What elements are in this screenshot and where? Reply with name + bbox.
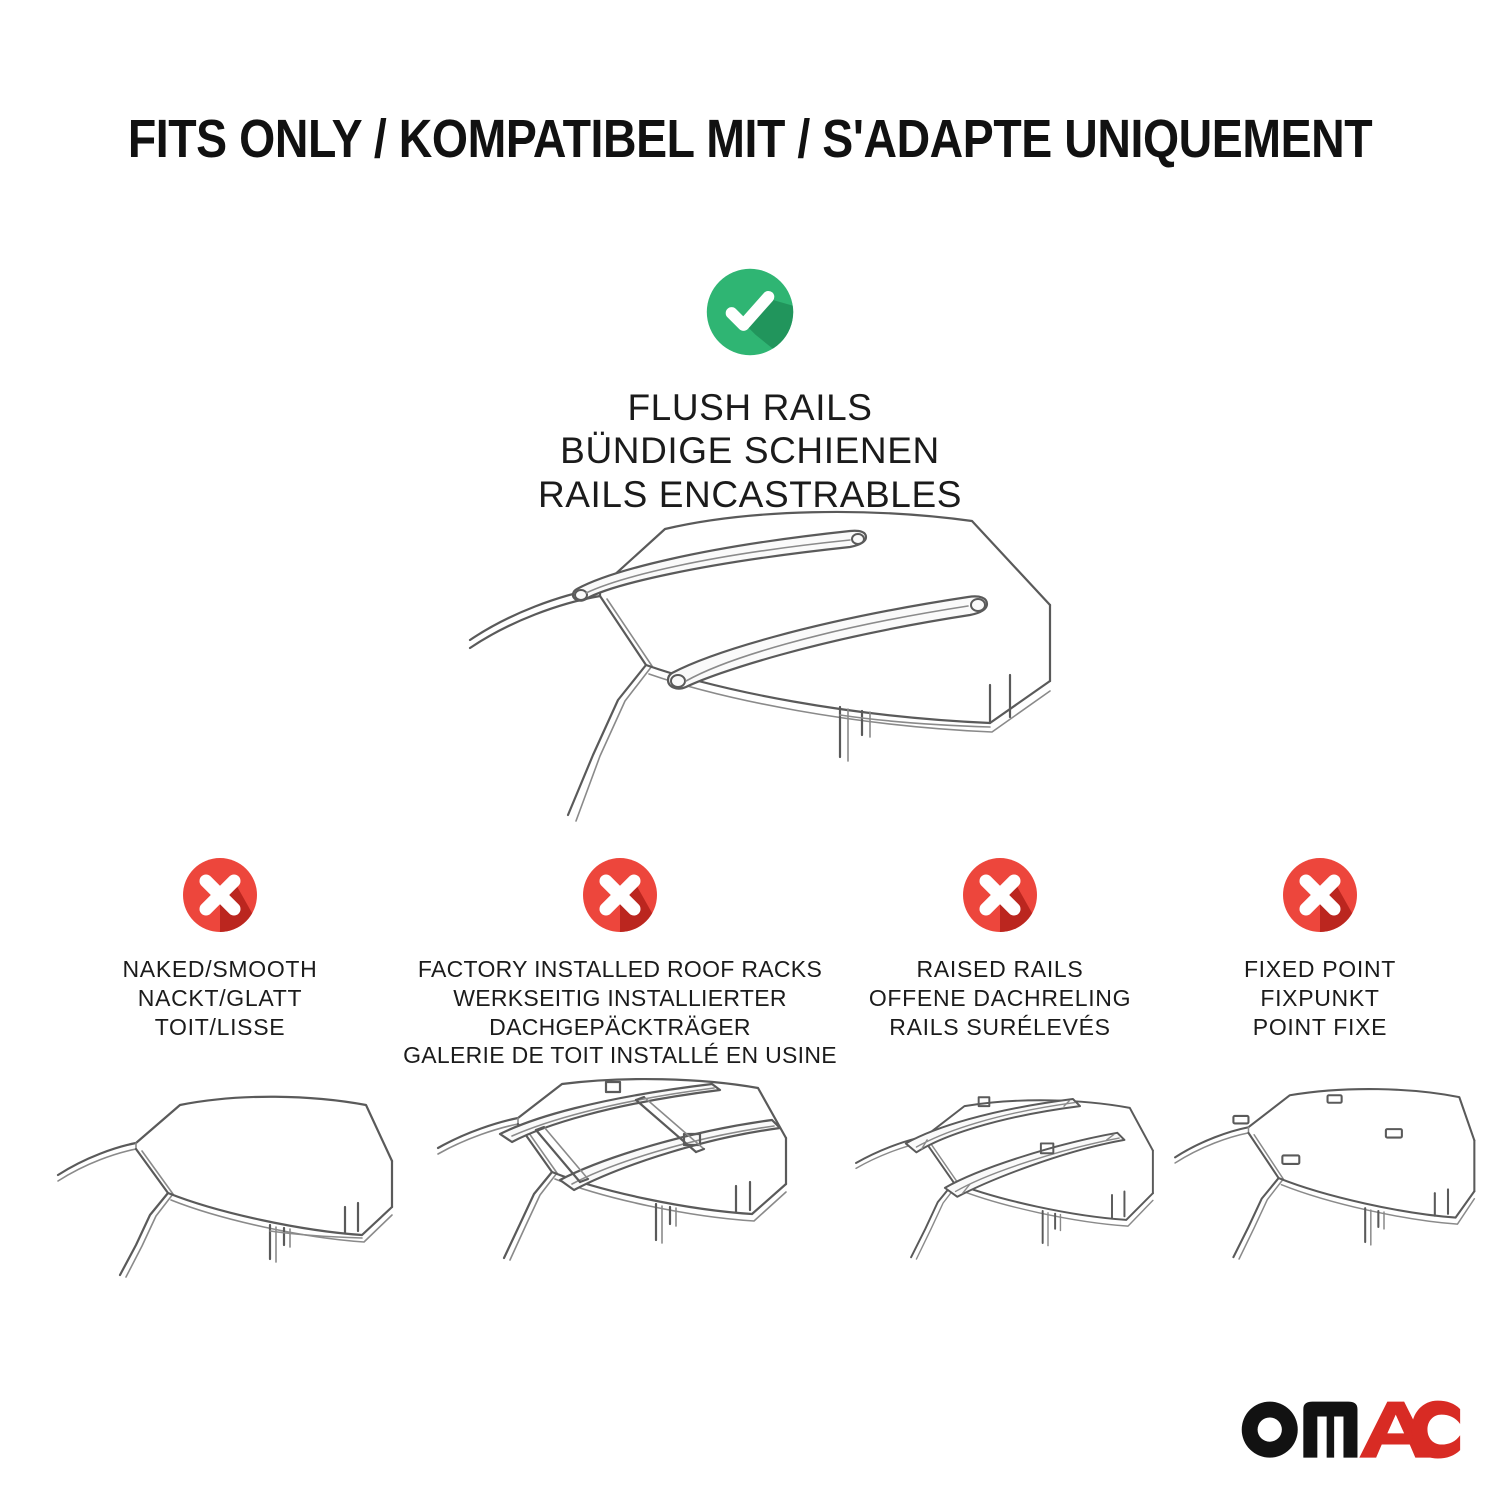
fixed-point-roof-drawing — [1160, 1075, 1480, 1315]
car-roof-raised-rails-illustration — [840, 1075, 1160, 1315]
compatible-label-en: FLUSH RAILS — [0, 386, 1500, 429]
page-title: FITS ONLY / KOMPATIBEL MIT / S'ADAPTE UN… — [105, 108, 1395, 170]
incompatible-labels-1: FACTORY INSTALLED ROOF RACKS WERKSEITIG … — [400, 955, 840, 1070]
omac-logo-mark — [1238, 1388, 1462, 1460]
incompatible-label-2-de: OFFENE DACHRELING — [840, 984, 1160, 1013]
incompatible-labels-3: FIXED POINT FIXPUNKT POINT FIXE — [1160, 955, 1480, 1041]
incompatible-labels-0: NAKED/SMOOTH NACKT/GLATT TOIT/LISSE — [40, 955, 400, 1041]
incompatible-label-1-de1: WERKSEITIG INSTALLIERTER — [400, 984, 840, 1013]
incompatible-badge-3 — [1270, 845, 1370, 945]
incompatible-label-1-fr: GALERIE DE TOIT INSTALLÉ EN USINE — [400, 1041, 840, 1070]
incompatible-label-3-fr: POINT FIXE — [1160, 1013, 1480, 1042]
compatible-label-de: BÜNDIGE SCHIENEN — [0, 429, 1500, 472]
incompatible-column-fixed-point: FIXED POINT FIXPUNKT POINT FIXE — [1160, 845, 1480, 1315]
factory-racks-roof-drawing — [400, 1076, 840, 1316]
check-circle-icon — [696, 258, 804, 366]
incompatible-badge-1 — [570, 845, 670, 945]
incompatible-label-0-fr: TOIT/LISSE — [40, 1013, 400, 1042]
naked-roof-drawing — [40, 1075, 400, 1315]
incompatible-label-1-en: FACTORY INSTALLED ROOF RACKS — [400, 955, 840, 984]
cross-circle-icon — [570, 845, 670, 945]
incompatible-label-0-de: NACKT/GLATT — [40, 984, 400, 1013]
compatibility-infographic: FITS ONLY / KOMPATIBEL MIT / S'ADAPTE UN… — [0, 0, 1500, 1500]
incompatible-label-1-de2: DACHGEPÄCKTRÄGER — [400, 1013, 840, 1042]
incompatible-labels-2: RAISED RAILS OFFENE DACHRELING RAILS SUR… — [840, 955, 1160, 1041]
car-roof-flush-rails-illustration — [450, 485, 1070, 825]
cross-circle-icon — [1270, 845, 1370, 945]
incompatible-column-naked-smooth: NAKED/SMOOTH NACKT/GLATT TOIT/LISSE — [40, 845, 400, 1315]
car-roof-naked-illustration — [40, 1075, 400, 1315]
compatible-badge — [696, 258, 804, 366]
compatible-section: FLUSH RAILS BÜNDIGE SCHIENEN RAILS ENCAS… — [0, 258, 1500, 516]
cross-circle-icon — [170, 845, 270, 945]
incompatible-label-2-fr: RAILS SURÉLEVÉS — [840, 1013, 1160, 1042]
car-roof-fixed-point-illustration — [1160, 1075, 1480, 1315]
incompatible-label-3-en: FIXED POINT — [1160, 955, 1480, 984]
incompatible-column-raised-rails: RAISED RAILS OFFENE DACHRELING RAILS SUR… — [840, 845, 1160, 1315]
flush-rails-roof-drawing — [450, 485, 1070, 825]
incompatible-badge-0 — [170, 845, 270, 945]
car-roof-factory-racks-illustration — [400, 1076, 840, 1316]
incompatible-column-factory-racks: FACTORY INSTALLED ROOF RACKS WERKSEITIG … — [400, 845, 840, 1316]
incompatible-label-3-de: FIXPUNKT — [1160, 984, 1480, 1013]
incompatible-badge-2 — [950, 845, 1050, 945]
omac-logo — [1238, 1388, 1462, 1460]
cross-circle-icon — [950, 845, 1050, 945]
incompatible-label-0-en: NAKED/SMOOTH — [40, 955, 400, 984]
incompatible-sections: NAKED/SMOOTH NACKT/GLATT TOIT/LISSE — [0, 845, 1500, 1445]
raised-rails-roof-drawing — [840, 1075, 1160, 1315]
incompatible-label-2-en: RAISED RAILS — [840, 955, 1160, 984]
